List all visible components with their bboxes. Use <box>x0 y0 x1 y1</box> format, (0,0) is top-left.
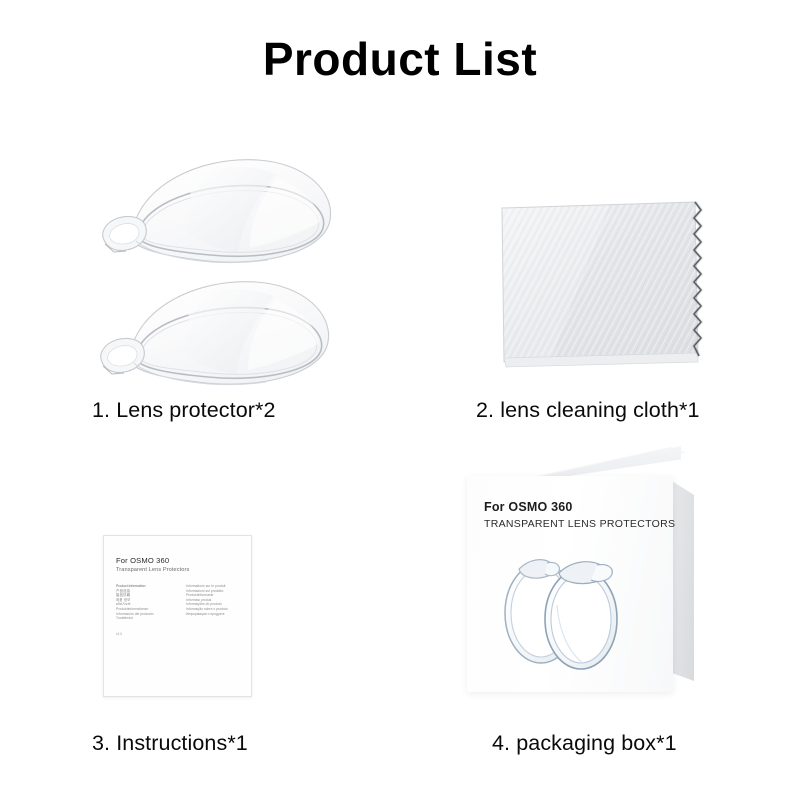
microfiber-cloth-icon <box>490 190 740 375</box>
sheet-columns: Product information 产品信息 製品情報 제품 정보 ผลิต… <box>116 584 244 621</box>
sheet-right-column: Informations sur le produit Informazioni… <box>186 584 244 621</box>
box-title: For OSMO 360 <box>484 500 573 514</box>
sheet-subheading: Transparent Lens Protectors <box>116 567 189 573</box>
sheet-footer: v1.0 <box>116 632 122 636</box>
product-item-label-2: 2. lens cleaning cloth*1 <box>476 398 700 423</box>
product-item-cleaning-cloth <box>490 190 740 375</box>
sheet-heading: For OSMO 360 <box>116 556 169 565</box>
product-list-page: Product List <box>0 0 800 800</box>
page-title: Product List <box>0 34 800 85</box>
box-side-face <box>672 481 694 681</box>
lens-protector-icon-1 <box>92 148 342 283</box>
sheet-line: Tuotetiedot <box>116 616 174 621</box>
product-item-label-4: 4. packaging box*1 <box>492 731 677 756</box>
sheet-line: Информация о продукте <box>186 612 244 617</box>
box-subtitle: TRANSPARENT LENS PROTECTORS <box>484 518 675 530</box>
sheet-left-column: Product information 产品信息 製品情報 제품 정보 ผลิต… <box>116 584 174 621</box>
product-item-instructions: For OSMO 360 Transparent Lens Protectors… <box>95 525 265 710</box>
product-item-packaging-box: For OSMO 360 TRANSPARENT LENS PROTECTORS <box>450 440 720 710</box>
product-item-label-3: 3. Instructions*1 <box>92 731 248 756</box>
product-item-lens-protector <box>70 130 370 385</box>
product-item-label-1: 1. Lens protector*2 <box>92 398 276 423</box>
instruction-sheet-icon: For OSMO 360 Transparent Lens Protectors… <box>103 535 252 697</box>
lens-protector-icon-2 <box>90 270 340 405</box>
box-lens-graphic <box>485 535 655 675</box>
